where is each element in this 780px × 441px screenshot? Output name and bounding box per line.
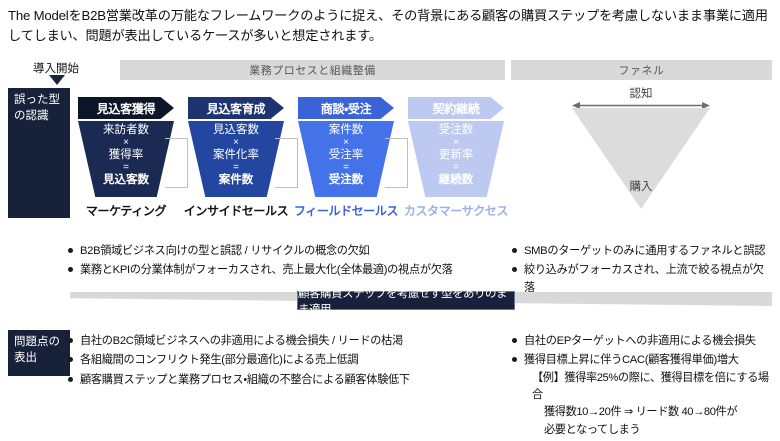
bullets-problem-right: 自社のEPターゲットへの非適用による機会損失 獲得目標上昇に伴うCAC(顧客獲得… — [512, 333, 778, 441]
role-label-1: マーケティング — [71, 202, 181, 219]
bullets-misrecognition-left: B2B領域ビジネス向けの型と誤認 / リサイクルの概念の欠如業務とKPIの分業体… — [68, 243, 498, 282]
role-label-3: フィールドセールス — [291, 202, 401, 219]
funnel-equals-1: = — [123, 163, 129, 173]
stage-header-3[interactable]: 商談・受注 — [298, 97, 394, 119]
stage-header-4[interactable]: 契約継続 — [408, 97, 504, 119]
problem-right-detail2: 必要となってしまう — [524, 422, 778, 439]
bullets-misrecognition-right: SMBのターゲットのみに通用するファネルと誤認絞り込みがフォーカスされ、上流で絞… — [512, 243, 774, 299]
stage-header-1[interactable]: 見込客獲得 — [78, 97, 174, 119]
funnel-result-4: 継続数 — [439, 174, 474, 187]
problem-right-main: 獲得目標上昇に伴うCAC(顧客獲得単価)増大 — [524, 354, 739, 366]
stage-funnel-4: 受注数×更新率=継続数 — [408, 121, 504, 197]
funnel-operator-3: × — [343, 138, 349, 148]
funnel-purchase-label: 購入 — [590, 178, 692, 194]
list-item: 自社のB2C領域ビジネスへの非適用による機会損失 / リードの枯渇 — [68, 333, 498, 350]
funnel-input-2: 見込客数 — [213, 124, 259, 137]
down-triangle-icon — [49, 75, 65, 85]
funnel-operator-1: × — [123, 138, 129, 148]
funnel-rate-4: 更新率 — [439, 149, 474, 162]
funnel-result-3: 受注数 — [329, 174, 364, 187]
role-label-4: カスタマーサクセス — [401, 202, 511, 219]
funnel-input-1: 来訪者数 — [103, 124, 149, 137]
stage-funnel-1: 来訪者数×獲得率=見込客数 — [78, 121, 174, 197]
connector-bracket-1 — [165, 138, 188, 188]
stage-funnel-3: 案件数×受注率=受注数 — [298, 121, 394, 197]
stage-header-2[interactable]: 見込客育成 — [188, 97, 284, 119]
sidebar-box-misrecognition: 誤った型の認識 — [8, 88, 70, 218]
list-item: 獲得目標上昇に伴うCAC(顧客獲得単価)増大 【例】獲得率25%の際に、獲得目標… — [512, 352, 778, 439]
funnel-operator-2: × — [233, 138, 239, 148]
band-header-funnel: ファネル — [511, 60, 772, 80]
funnel-rate-1: 獲得率 — [109, 149, 144, 162]
bullets-problem-left: 自社のB2C領域ビジネスへの非適用による機会損失 / リードの枯渇各組織間のコン… — [68, 333, 498, 391]
funnel-rate-3: 受注率 — [329, 149, 364, 162]
funnel-result-1: 見込客数 — [103, 174, 149, 187]
funnel-operator-4: × — [453, 138, 459, 148]
list-item: 絞り込みがフォーカスされ、上流で絞る視点が欠落 — [512, 262, 774, 297]
start-label: 導入開始 — [6, 60, 106, 76]
banner-apply-as-is: 顧客購買ステップを考慮せず型をありのまま適用 — [297, 291, 515, 310]
connector-bracket-3 — [385, 138, 408, 188]
problem-right-example: 【例】獲得率25%の際に、獲得目標を倍にする場合 — [524, 370, 778, 405]
funnel-input-4: 受注数 — [439, 124, 474, 137]
list-item: SMBのターゲットのみに通用するファネルと誤認 — [512, 243, 774, 260]
funnel-rate-2: 案件化率 — [213, 149, 259, 162]
role-label-2: インサイドセールス — [181, 202, 291, 219]
list-item: 各組織間のコンフリクト発生(部分最適化)による売上低調 — [68, 352, 498, 369]
funnel-equals-3: = — [343, 163, 349, 173]
stage-funnel-2: 見込客数×案件化率=案件数 — [188, 121, 284, 197]
list-item: 業務とKPIの分業体制がフォーカスされ、売上最大化(全体最適)の視点が欠落 — [68, 262, 498, 279]
funnel-result-2: 案件数 — [219, 174, 254, 187]
connector-bracket-2 — [275, 138, 298, 188]
funnel-awareness-label: 認知 — [588, 85, 694, 101]
list-item: 自社のEPターゲットへの非適用による機会損失 — [512, 333, 778, 350]
funnel-equals-2: = — [233, 163, 239, 173]
funnel-input-3: 案件数 — [329, 124, 364, 137]
list-item: 顧客購買ステップと業務プロセス・組織の不整合による顧客体験低下 — [68, 372, 498, 389]
intro-paragraph: The ModelをB2B営業改革の万能なフレームワークのように捉え、その背景に… — [8, 6, 772, 47]
sidebar-box-problem: 問題点の表出 — [8, 330, 70, 376]
band-header-process: 業務プロセスと組織整備 — [120, 60, 505, 80]
funnel-equals-4: = — [453, 163, 459, 173]
list-item: B2B領域ビジネス向けの型と誤認 / リサイクルの概念の欠如 — [68, 243, 498, 260]
problem-right-detail: 獲得数10→20件 ⇒ リード数 40→80件が — [524, 404, 778, 421]
